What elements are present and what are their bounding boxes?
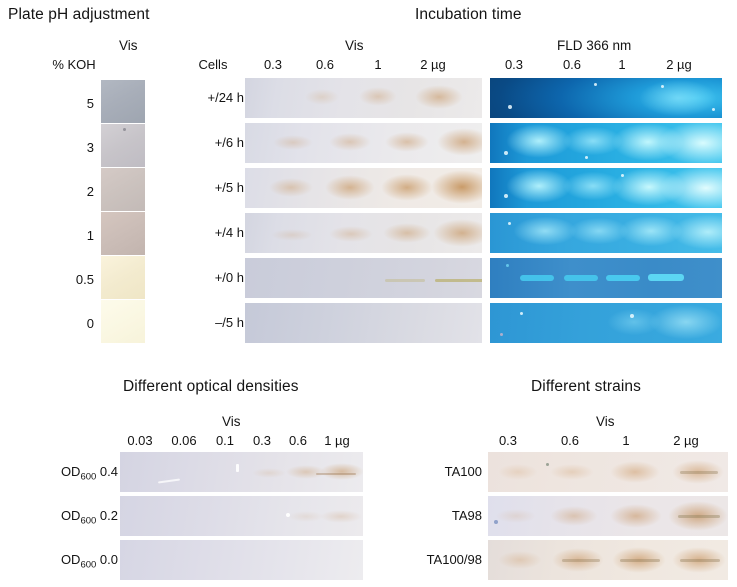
vis-line bbox=[316, 473, 356, 475]
fld-fleck bbox=[500, 333, 503, 336]
fld-band bbox=[660, 168, 722, 208]
vis-spot bbox=[498, 551, 542, 569]
ph-row-label: 1 bbox=[34, 228, 94, 243]
ph-row-label: 2 bbox=[34, 184, 94, 199]
fld-fleck bbox=[504, 151, 508, 155]
column-label-strain: 0.6 bbox=[552, 433, 588, 448]
ph-row-label: 0.5 bbox=[24, 272, 94, 287]
vis-spot bbox=[550, 464, 594, 480]
vis-spot bbox=[415, 85, 463, 109]
od-row-value: 0.4 bbox=[100, 464, 118, 479]
fld-band bbox=[640, 80, 716, 116]
swatch-speck bbox=[123, 128, 126, 131]
fld-strip bbox=[490, 213, 722, 253]
vis-spot bbox=[329, 133, 371, 151]
mode-label-vis-ph: Vis bbox=[119, 38, 138, 53]
vis-line bbox=[562, 559, 600, 562]
fld-band bbox=[506, 124, 572, 158]
strain-row-label: TA98 bbox=[410, 508, 482, 523]
vis-spot bbox=[359, 87, 397, 106]
panel-title-optical-densities: Different optical densities bbox=[123, 378, 299, 396]
vis-spot bbox=[431, 170, 482, 204]
fld-band bbox=[514, 217, 576, 245]
scan-artifact bbox=[494, 520, 498, 524]
od-row-subscript: 600 bbox=[80, 516, 96, 527]
incubation-row-label: +/4 h bbox=[180, 225, 244, 240]
column-label-strain: 1 bbox=[614, 433, 638, 448]
vis-strip bbox=[245, 78, 482, 118]
vis-spot bbox=[273, 135, 313, 150]
vis-strip bbox=[488, 540, 728, 580]
od-row-prefix: OD bbox=[61, 552, 81, 567]
panel-plate-ph-adjustment: Plate pH adjustment Vis % KOH 5 3 2 1 0.… bbox=[0, 0, 185, 360]
vis-strip bbox=[245, 258, 482, 298]
column-label-strain: 2 µg bbox=[662, 433, 710, 448]
incubation-row-label: +/5 h bbox=[180, 180, 244, 195]
ph-row-label: 5 bbox=[34, 96, 94, 111]
vis-spot bbox=[329, 226, 373, 242]
od-row-label: OD600 0.4 bbox=[38, 464, 118, 483]
column-label-vis: 2 µg bbox=[409, 57, 457, 72]
ph-swatch bbox=[101, 80, 145, 123]
column-label-od: 0.3 bbox=[247, 433, 277, 448]
fld-fleck bbox=[504, 194, 508, 198]
vis-strip bbox=[488, 452, 728, 492]
column-label-od: 0.06 bbox=[166, 433, 202, 448]
scan-artifact bbox=[546, 463, 549, 466]
od-row-value: 0.2 bbox=[100, 508, 118, 523]
panel-different-strains: Different strains Vis 0.3 0.6 1 2 µg TA1… bbox=[400, 370, 737, 587]
scan-artifact bbox=[158, 478, 180, 483]
fld-band bbox=[672, 215, 722, 249]
vis-spot bbox=[269, 178, 313, 197]
vis-spot bbox=[437, 128, 482, 156]
vis-line bbox=[680, 471, 718, 474]
vis-strip bbox=[120, 540, 363, 580]
incubation-row-label: +/6 h bbox=[180, 135, 244, 150]
mode-label-vis-od: Vis bbox=[222, 414, 241, 429]
vis-spot bbox=[271, 229, 313, 241]
fld-band bbox=[658, 123, 722, 163]
ph-swatch bbox=[101, 124, 145, 167]
row-header-cells: Cells bbox=[188, 57, 238, 72]
ph-swatch bbox=[101, 256, 145, 299]
incubation-row-label: +/0 h bbox=[180, 270, 244, 285]
ph-swatch bbox=[101, 300, 145, 343]
fld-band bbox=[648, 274, 684, 281]
fld-fleck bbox=[508, 105, 512, 109]
ph-swatch bbox=[101, 212, 145, 255]
fld-fleck bbox=[506, 264, 509, 267]
vis-spot bbox=[288, 511, 324, 522]
vis-spot bbox=[498, 464, 538, 480]
vis-line bbox=[680, 559, 720, 562]
od-row-prefix: OD bbox=[61, 508, 81, 523]
mode-label-fld-incubation: FLD 366 nm bbox=[557, 38, 631, 53]
vis-spot bbox=[383, 223, 431, 243]
vis-spot bbox=[381, 174, 433, 201]
column-label-vis: 0.3 bbox=[255, 57, 291, 72]
vis-strip bbox=[245, 303, 482, 343]
fld-fleck bbox=[520, 312, 523, 315]
scan-artifact bbox=[286, 513, 290, 517]
vis-strip bbox=[245, 168, 482, 208]
vis-strip bbox=[245, 213, 482, 253]
vis-spot bbox=[305, 89, 339, 105]
panel-title-plate-ph: Plate pH adjustment bbox=[8, 6, 149, 24]
vis-line bbox=[620, 559, 660, 562]
od-row-subscript: 600 bbox=[80, 560, 96, 571]
fld-fleck bbox=[594, 83, 597, 86]
scan-artifact bbox=[236, 464, 239, 472]
column-label-od: 1 µg bbox=[317, 433, 357, 448]
vis-spot bbox=[610, 461, 660, 483]
vis-spot bbox=[433, 219, 482, 247]
od-row-label: OD600 0.0 bbox=[38, 552, 118, 571]
vis-line bbox=[385, 279, 425, 282]
row-header-percent-koh: % KOH bbox=[45, 57, 103, 72]
od-row-label: OD600 0.2 bbox=[38, 508, 118, 527]
fld-fleck bbox=[712, 108, 715, 111]
panel-different-optical-densities: Different optical densities Vis 0.03 0.0… bbox=[0, 370, 400, 587]
column-label-strain: 0.3 bbox=[490, 433, 526, 448]
vis-spot bbox=[610, 504, 662, 528]
column-label-fld: 0.3 bbox=[496, 57, 532, 72]
vis-line bbox=[678, 515, 720, 518]
fld-strip bbox=[490, 78, 722, 118]
column-label-vis: 1 bbox=[366, 57, 390, 72]
vis-spot bbox=[325, 175, 375, 200]
fld-band bbox=[564, 275, 598, 281]
incubation-row-label: –/5 h bbox=[180, 315, 244, 330]
vis-strip bbox=[120, 496, 363, 536]
od-row-value: 0.0 bbox=[100, 552, 118, 567]
fld-strip bbox=[490, 123, 722, 163]
fld-strip bbox=[490, 258, 722, 298]
vis-spot bbox=[496, 509, 536, 523]
column-label-od: 0.03 bbox=[122, 433, 158, 448]
strain-row-label: TA100 bbox=[410, 464, 482, 479]
panel-incubation-time: Incubation time Vis FLD 366 nm Cells 0.3… bbox=[185, 0, 737, 360]
fld-fleck bbox=[621, 174, 624, 177]
column-label-vis: 0.6 bbox=[307, 57, 343, 72]
column-label-fld: 1 bbox=[610, 57, 634, 72]
fld-strip bbox=[490, 168, 722, 208]
fld-strip bbox=[490, 303, 722, 343]
fld-fleck bbox=[508, 222, 511, 225]
fld-band bbox=[650, 305, 722, 339]
vis-spot bbox=[252, 468, 286, 478]
ph-row-label: 3 bbox=[34, 140, 94, 155]
mode-label-vis-incubation: Vis bbox=[345, 38, 364, 53]
vis-spot bbox=[550, 506, 598, 526]
fld-band bbox=[606, 275, 640, 281]
fld-fleck bbox=[630, 314, 634, 318]
vis-spot bbox=[320, 510, 362, 523]
vis-spot bbox=[385, 132, 429, 152]
vis-strip bbox=[120, 452, 363, 492]
column-label-fld: 0.6 bbox=[554, 57, 590, 72]
panel-title-incubation-time: Incubation time bbox=[415, 6, 522, 24]
vis-strip bbox=[488, 496, 728, 536]
fld-fleck bbox=[661, 85, 664, 88]
vis-line bbox=[435, 279, 482, 282]
column-label-od: 0.6 bbox=[283, 433, 313, 448]
incubation-row-label: +/24 h bbox=[180, 90, 244, 105]
mode-label-vis-strains: Vis bbox=[596, 414, 615, 429]
ph-row-label: 0 bbox=[34, 316, 94, 331]
column-label-fld: 2 µg bbox=[655, 57, 703, 72]
fld-band bbox=[520, 275, 554, 281]
ph-swatch bbox=[101, 168, 145, 211]
strain-row-label: TA100/98 bbox=[400, 552, 482, 567]
fld-band bbox=[506, 169, 572, 203]
od-row-prefix: OD bbox=[61, 464, 81, 479]
fld-fleck bbox=[585, 156, 588, 159]
column-label-od: 0.1 bbox=[210, 433, 240, 448]
vis-strip bbox=[245, 123, 482, 163]
vis-spot bbox=[320, 463, 363, 480]
panel-title-different-strains: Different strains bbox=[531, 378, 641, 396]
od-row-subscript: 600 bbox=[80, 472, 96, 483]
